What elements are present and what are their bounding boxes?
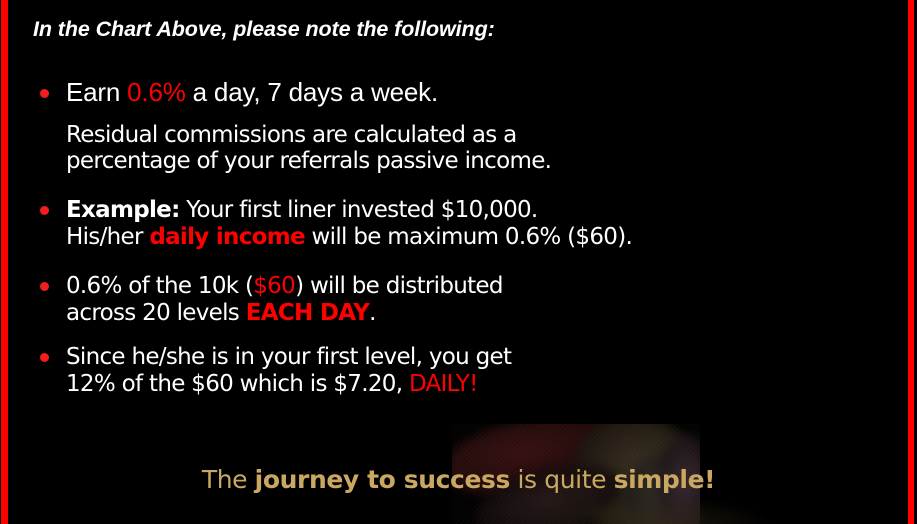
example-line-1: Example: Your first liner invested $10,0… bbox=[66, 197, 538, 223]
example-pre: His/her bbox=[66, 224, 149, 250]
tagline-part2: is quite bbox=[510, 465, 614, 494]
bullet-dot-icon bbox=[40, 353, 49, 362]
slide-tagline: The journey to success is quite simple! bbox=[0, 465, 917, 494]
distribution-highlight: $60 bbox=[253, 273, 295, 299]
example-lead: Example: bbox=[66, 197, 180, 223]
distribution-line-1: 0.6% of the 10k ($60) will be distribute… bbox=[66, 273, 503, 299]
distribution-line-2: across 20 levels EACH DAY. bbox=[66, 300, 376, 326]
tagline-bold2: simple! bbox=[614, 465, 716, 494]
example-highlight: daily income bbox=[149, 224, 305, 250]
example-rest: Your first liner invested $10,000. bbox=[180, 197, 538, 223]
distribution2-highlight: EACH DAY bbox=[246, 300, 369, 326]
distribution-pre: 0.6% of the 10k ( bbox=[66, 273, 253, 299]
bullet-text-earn-rate: Earn 0.6% a day, 7 days a week. bbox=[66, 77, 438, 107]
example-line-2: His/her daily income will be maximum 0.6… bbox=[66, 224, 632, 250]
sub-paragraph-line2: percentage of your referrals passive inc… bbox=[66, 148, 551, 174]
earn-rate-pre: Earn bbox=[66, 77, 127, 107]
distribution2-post: . bbox=[369, 300, 376, 326]
payout-line-2: 12% of the $60 which is $7.20, DAILY! bbox=[66, 371, 478, 397]
tagline-part1: The bbox=[202, 465, 255, 494]
distribution2-pre: across 20 levels bbox=[66, 300, 246, 326]
distribution-post: ) will be distributed bbox=[295, 273, 503, 299]
payout-line-1: Since he/she is in your first level, you… bbox=[66, 344, 511, 370]
bullet-dot-icon bbox=[40, 206, 49, 215]
slide-canvas: In the Chart Above, please note the foll… bbox=[0, 0, 917, 524]
bullet-dot-icon bbox=[40, 89, 49, 98]
example-post: will be maximum 0.6% ($60). bbox=[305, 224, 632, 250]
payout-pre: 12% of the $60 which is $7.20, bbox=[66, 371, 409, 397]
tagline-bold1: journey to success bbox=[255, 465, 510, 494]
earn-rate-highlight: 0.6% bbox=[127, 77, 185, 107]
sub-paragraph-line1: Residual commissions are calculated as a bbox=[66, 122, 517, 148]
payout-highlight: DAILY! bbox=[409, 371, 478, 397]
slide-headline: In the Chart Above, please note the foll… bbox=[33, 17, 495, 42]
earn-rate-post: a day, 7 days a week. bbox=[186, 77, 438, 107]
bullet-dot-icon bbox=[40, 282, 49, 291]
